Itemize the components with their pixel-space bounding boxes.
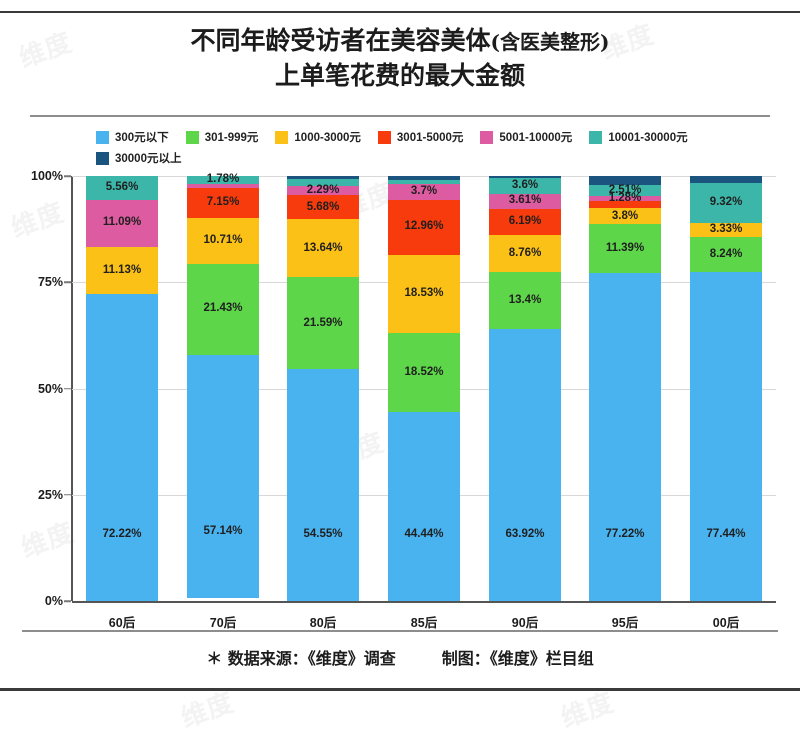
bar-segment[interactable]: 44.44% (388, 412, 460, 601)
legend-swatch-icon (96, 131, 109, 144)
footer-credit: 制图：《维度》栏目组 (442, 645, 594, 669)
bar-segment-label: 8.76% (509, 248, 542, 260)
legend-item-label: 5001-10000元 (499, 129, 572, 145)
bar-segment[interactable]: 11.39% (589, 224, 661, 272)
x-axis-tick-label: 70后 (187, 612, 259, 631)
bar-segment[interactable]: 3.8% (589, 208, 661, 224)
bar-segment-label: 5.68% (307, 202, 340, 214)
legend-item-label: 10001-30000元 (608, 129, 687, 145)
bottom-border-rule (0, 688, 800, 691)
bar-segment[interactable]: 3.33% (690, 223, 762, 237)
legend-item-label: 30000元以上 (115, 150, 181, 166)
bar-segment[interactable]: 21.43% (187, 264, 259, 355)
y-axis-tick-mark (64, 282, 71, 284)
x-axis-tick-label: 90后 (489, 612, 561, 631)
y-axis-tick-mark (64, 175, 71, 177)
legend-swatch-icon (186, 131, 199, 144)
bar-segment-label: 3.7% (411, 186, 437, 198)
bar-segment[interactable]: 18.52% (388, 333, 460, 412)
bar-segment-label: 11.09% (103, 217, 141, 229)
bar-segment[interactable]: 13.4% (489, 272, 561, 329)
x-axis-tick-label: 95后 (589, 612, 661, 631)
legend-item[interactable]: 3001-5000元 (378, 129, 464, 145)
bar-segment-label: 3.61% (509, 195, 542, 207)
bar-segment[interactable]: 2.29% (287, 186, 359, 196)
bar-segment-label: 7.15% (207, 197, 240, 209)
chart-title-line1: 不同年龄受访者在美容美体(含医美整形) (0, 24, 800, 59)
bar-segment-label: 21.59% (303, 318, 342, 330)
footer-divider-rule (22, 630, 778, 632)
stacked-bar[interactable]: 3.6%3.61%6.19%8.76%13.4%63.92% (489, 176, 561, 601)
x-axis-tick-label: 85后 (388, 612, 460, 631)
watermark: 维度 (15, 512, 78, 565)
legend-item[interactable]: 5001-10000元 (480, 129, 572, 145)
bar-segment-label: 3.33% (710, 224, 743, 236)
legend-item[interactable]: 1000-3000元 (275, 129, 361, 145)
legend-item-label: 1000-3000元 (294, 129, 361, 145)
stacked-bar[interactable]: 1.78%7.15%10.71%21.43%57.14% (187, 176, 259, 601)
bar-segment[interactable]: 9.32% (690, 183, 762, 223)
bar-segment[interactable]: 12.96% (388, 200, 460, 255)
legend-swatch-icon (589, 131, 602, 144)
watermark: 维度 (5, 192, 68, 245)
bar-segment[interactable] (589, 201, 661, 208)
bar-segment-label: 18.52% (404, 367, 443, 379)
bar-segment-label: 77.22% (605, 529, 644, 541)
bar-segment-label: 44.44% (404, 529, 443, 541)
y-axis-tick-label: 0% (45, 594, 63, 608)
bar-segment[interactable]: 5.68% (287, 195, 359, 219)
bar-segment[interactable]: 57.14% (187, 355, 259, 598)
y-axis-tick-label: 25% (38, 488, 63, 502)
stacked-bar[interactable]: 9.32%3.33%8.24%77.44% (690, 176, 762, 601)
bar-segment-label: 3.8% (612, 211, 638, 223)
bar-segment-label: 21.43% (203, 303, 242, 315)
bar-segment[interactable]: 11.09% (86, 200, 158, 247)
legend-item[interactable]: 301-999元 (186, 129, 259, 145)
bar-segment[interactable]: 11.13% (86, 247, 158, 294)
bar-segment-label: 11.39% (606, 243, 644, 255)
bar-segment-label: 12.96% (404, 221, 443, 233)
y-axis-tick-label: 100% (31, 169, 63, 183)
y-axis-tick-mark (64, 600, 71, 602)
legend-item[interactable]: 10001-30000元 (589, 129, 687, 145)
bar-segment[interactable] (690, 176, 762, 183)
stacked-bar[interactable]: 3.7%12.96%18.53%18.52%44.44% (388, 176, 460, 601)
stacked-bar[interactable]: 5.56%11.09%11.13%72.22% (86, 176, 158, 601)
bar-segment-label: 11.13% (103, 265, 141, 277)
bar-segment[interactable]: 72.22% (86, 294, 158, 601)
bar-segment-label: 77.44% (706, 529, 745, 541)
x-axis-tick-label: 60后 (86, 612, 158, 631)
bar-segment[interactable]: 21.59% (287, 277, 359, 369)
bar-segment[interactable]: 7.15% (187, 188, 259, 218)
bar-segment[interactable]: 3.61% (489, 194, 561, 209)
bar-segment[interactable]: 10.71% (187, 218, 259, 264)
bar-segment[interactable]: 5.56% (86, 176, 158, 200)
bar-segment-label: 18.53% (404, 288, 443, 300)
y-axis-tick-mark (64, 494, 71, 496)
bar-segment-label: 3.6% (512, 180, 538, 192)
chart-title: 不同年龄受访者在美容美体(含医美整形) 上单笔花费的最大金额 (0, 24, 800, 93)
footer-source: ＊ 数据来源：《维度》调查 (206, 645, 396, 669)
bar-segment-label: 57.14% (203, 526, 242, 538)
legend-item-label: 300元以下 (115, 129, 169, 145)
bar-segment[interactable]: 13.64% (287, 219, 359, 277)
bar-segment-label: 6.19% (509, 216, 542, 228)
bar-segment-label: 13.4% (509, 295, 542, 307)
bar-segment[interactable]: 6.19% (489, 209, 561, 235)
bar-segment-label: 10.71% (203, 235, 242, 247)
bar-segment[interactable]: 3.6% (489, 178, 561, 193)
legend-swatch-icon (275, 131, 288, 144)
bar-segment[interactable]: 1.78% (187, 176, 259, 184)
bar-segment-label: 13.64% (303, 243, 342, 255)
y-axis-tick-label: 50% (38, 382, 63, 396)
x-axis-tick-label: 80后 (287, 612, 359, 631)
chart-title-line2: 上单笔花费的最大金额 (0, 59, 800, 93)
y-axis-tick-label: 75% (38, 275, 63, 289)
chart-footer: ＊ 数据来源：《维度》调查 制图：《维度》栏目组 (0, 645, 800, 669)
bar-segment[interactable]: 18.53% (388, 255, 460, 334)
plot-area: 0%25%50%75%100%5.56%11.09%11.13%72.22%60… (72, 176, 776, 601)
bar-segment-label: 8.24% (710, 249, 743, 261)
bar-segment-label: 72.22% (102, 529, 141, 541)
title-divider-rule (30, 115, 770, 117)
bar-segment[interactable]: 63.92% (489, 329, 561, 601)
x-axis-tick-label: 00后 (690, 612, 762, 631)
legend-item[interactable]: 30000元以上 (96, 150, 181, 166)
bar-segment-label: 54.55% (303, 529, 342, 541)
legend-swatch-icon (96, 152, 109, 165)
legend-item-label: 3001-5000元 (397, 129, 464, 145)
legend-item[interactable]: 300元以下 (96, 129, 169, 145)
bar-segment[interactable]: 77.44% (690, 272, 762, 601)
chart-legend: 300元以下301-999元1000-3000元3001-5000元5001-1… (96, 129, 786, 166)
legend-item-label: 301-999元 (205, 129, 259, 145)
bar-segment[interactable]: 8.76% (489, 235, 561, 272)
legend-swatch-icon (480, 131, 493, 144)
bar-segment-label: 5.56% (106, 182, 139, 194)
legend-swatch-icon (378, 131, 391, 144)
bar-segment-label: 63.92% (505, 529, 544, 541)
bar-segment[interactable]: 54.55% (287, 369, 359, 601)
top-border-rule (0, 11, 800, 13)
bar-segment-label: 9.32% (710, 197, 743, 209)
bar-segment[interactable]: 3.7% (388, 184, 460, 200)
bar-segment[interactable]: 8.24% (690, 237, 762, 272)
stacked-bar[interactable]: 2.51%1.28%3.8%11.39%77.22% (589, 176, 661, 601)
bar-segment[interactable]: 77.22% (589, 273, 661, 601)
x-axis-line (72, 601, 776, 603)
stacked-bar[interactable]: 2.29%5.68%13.64%21.59%54.55% (287, 176, 359, 601)
y-axis-tick-mark (64, 388, 71, 390)
